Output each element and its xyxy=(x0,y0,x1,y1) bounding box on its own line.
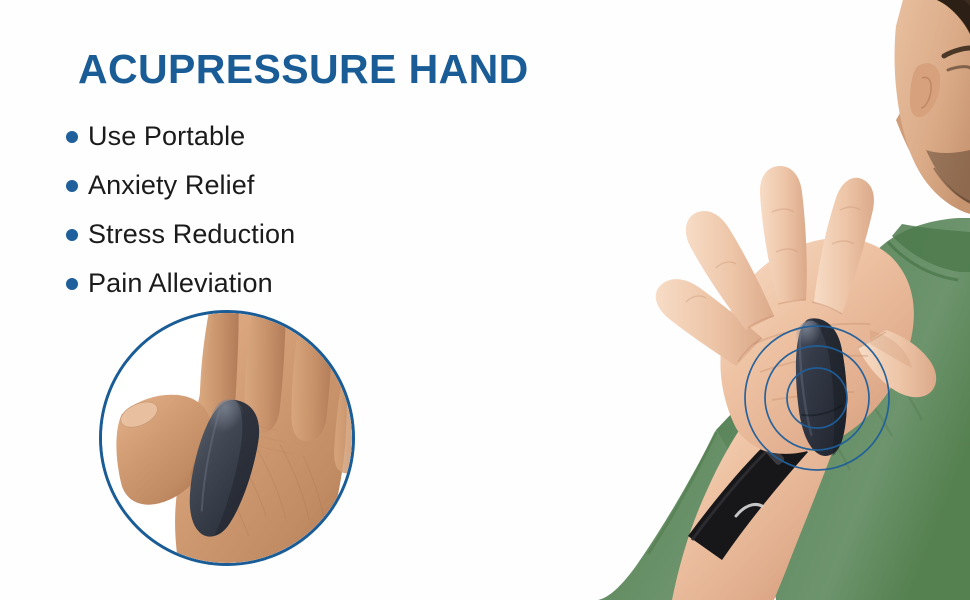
bullet-dot-icon xyxy=(66,131,78,143)
list-item: Anxiety Relief xyxy=(66,161,295,210)
list-item-label: Stress Reduction xyxy=(88,221,295,248)
list-item: Pain Alleviation xyxy=(66,259,295,308)
list-item: Use Portable xyxy=(66,112,295,161)
promo-banner: ACUPRESSURE HAND PRESSURE Use Portable A… xyxy=(0,0,970,600)
list-item-label: Pain Alleviation xyxy=(88,270,273,297)
benefits-list: Use Portable Anxiety Relief Stress Reduc… xyxy=(66,112,295,308)
model-photo xyxy=(540,0,970,600)
list-item: Stress Reduction xyxy=(66,210,295,259)
bullet-dot-icon xyxy=(66,180,78,192)
bullet-dot-icon xyxy=(66,229,78,241)
list-item-label: Use Portable xyxy=(88,123,245,150)
list-item-label: Anxiety Relief xyxy=(88,172,254,199)
man-holding-device-illustration xyxy=(540,0,970,600)
product-closeup-circle xyxy=(99,310,355,566)
bullet-dot-icon xyxy=(66,278,78,290)
hand-with-device-illustration xyxy=(102,313,352,563)
